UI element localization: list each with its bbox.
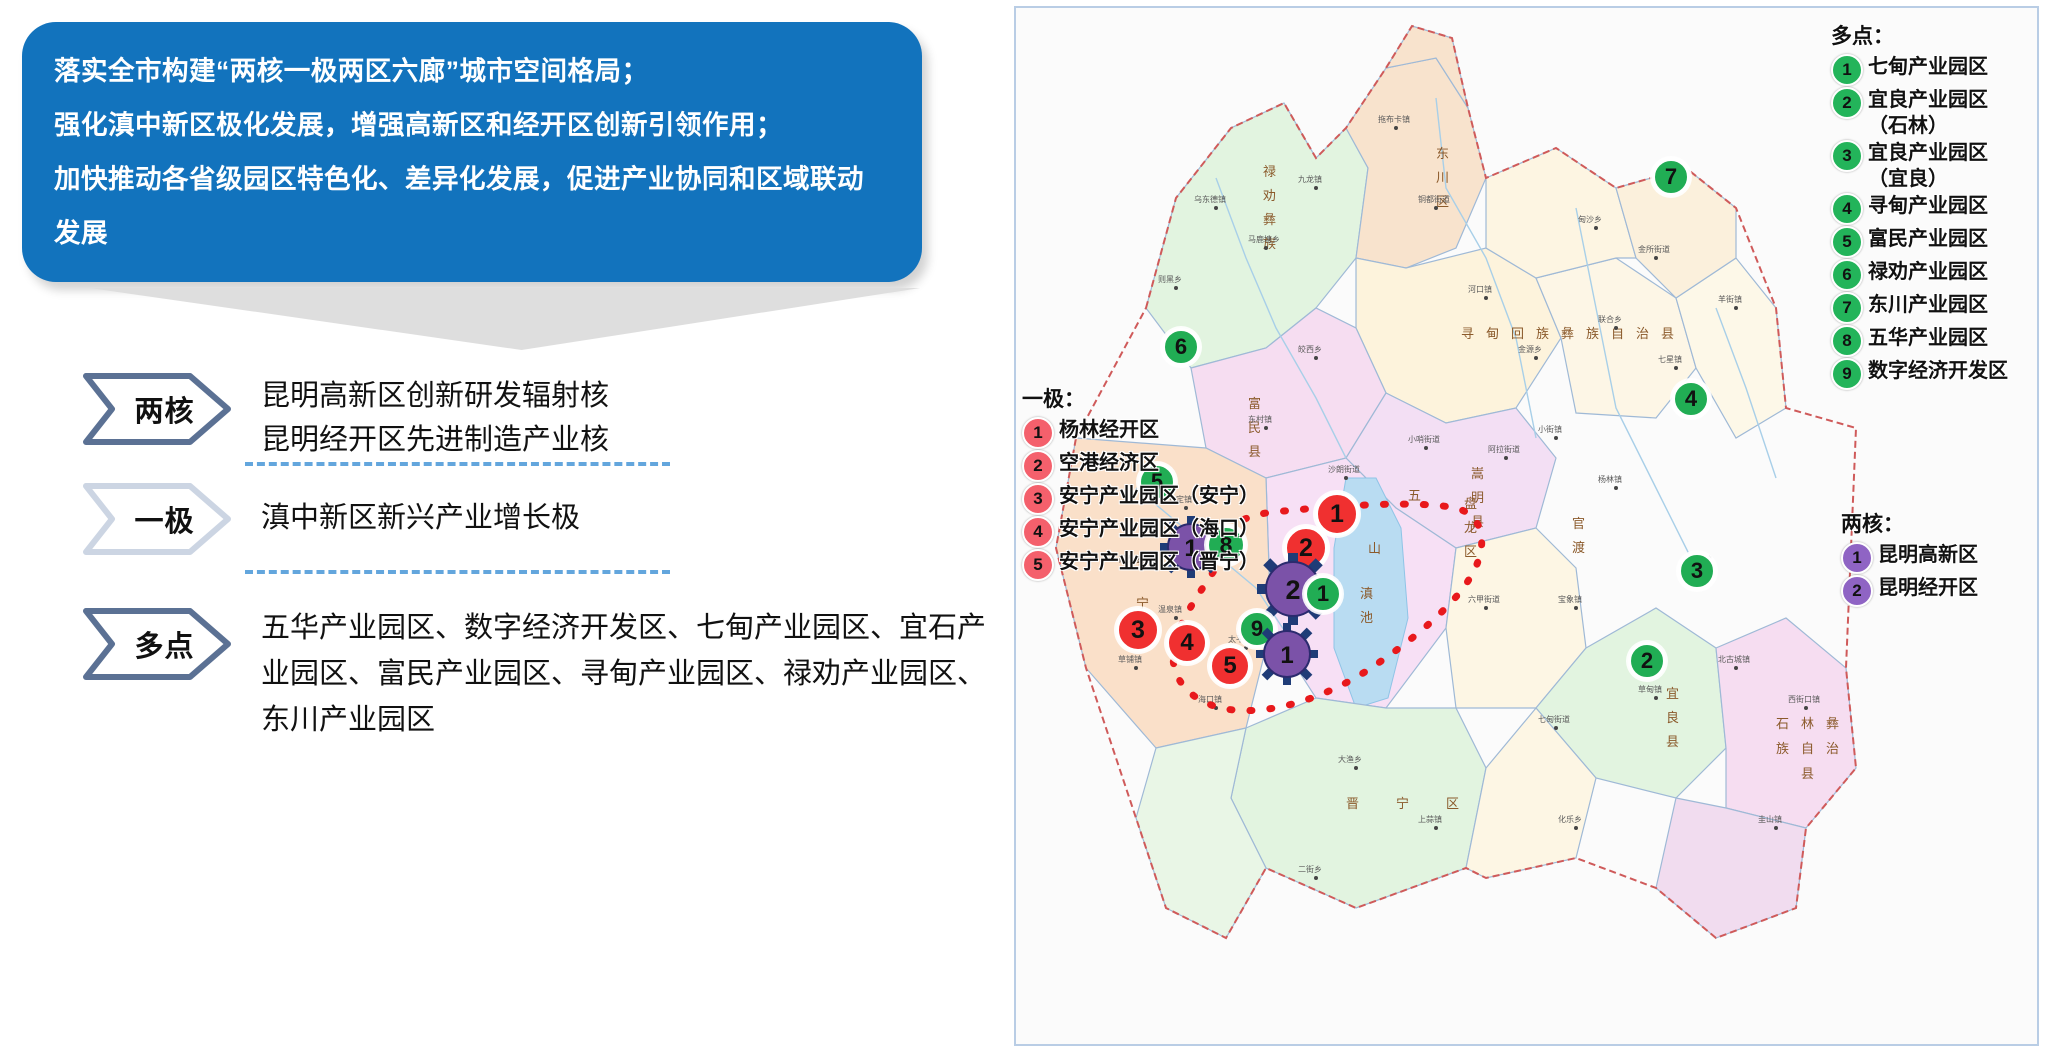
svg-text:区: 区 xyxy=(1446,796,1459,811)
legend-label: 杨林经开区 xyxy=(1059,417,1159,443)
svg-text:拖布卡镇: 拖布卡镇 xyxy=(1378,114,1410,124)
map-marker-red-5[interactable]: 5 xyxy=(1209,645,1251,687)
svg-text:金所街道: 金所街道 xyxy=(1638,244,1670,254)
svg-text:上蒜镇: 上蒜镇 xyxy=(1418,814,1442,824)
blue-callout-box: 落实全市构建“两核一极两区六廊”城市空间格局； 强化滇中新区极化发展，增强高新区… xyxy=(22,22,922,282)
svg-text:金源乡: 金源乡 xyxy=(1518,344,1542,354)
legend-label: 空港经济区 xyxy=(1059,450,1159,476)
legend-item[interactable]: 2 昆明经开区 xyxy=(1841,575,2031,607)
desc-duodian: 五华产业园区、数字经济开发区、七甸产业园区、宜石产业园区、富民产业园区、寻甸产业… xyxy=(261,605,1010,743)
svg-text:甸: 甸 xyxy=(1486,326,1499,341)
svg-text:官: 官 xyxy=(1572,516,1585,531)
legend-badge: 1 xyxy=(1831,54,1863,86)
map-marker-red-3[interactable]: 3 xyxy=(1116,608,1160,652)
svg-text:寻: 寻 xyxy=(1461,326,1474,341)
svg-text:族: 族 xyxy=(1536,326,1549,341)
legend-badge: 3 xyxy=(1022,483,1054,515)
map-gear-marker-1b[interactable]: 1 xyxy=(1256,623,1318,685)
kunming-map-panel: .cty{stroke:#9fb9d6;stroke-width:1.2;} .… xyxy=(1014,6,2039,1046)
svg-text:禄: 禄 xyxy=(1263,164,1276,179)
row-lianghe: 两核 昆明高新区创新研发辐射核 昆明经开区先进制造产业核 xyxy=(0,370,1010,462)
svg-text:草甸镇: 草甸镇 xyxy=(1638,684,1662,694)
row-yiji: 一极 滇中新区新兴产业增长极 xyxy=(0,480,1010,558)
legend-label: 五华产业园区 xyxy=(1868,325,1988,351)
legend-label: 昆明经开区 xyxy=(1878,575,1978,601)
map-marker-green-2[interactable]: 2 xyxy=(1628,642,1666,680)
svg-text:族: 族 xyxy=(1776,741,1789,756)
legend-badge: 5 xyxy=(1831,226,1863,258)
legend-item[interactable]: 3 宜良产业园区 （宜良） xyxy=(1831,140,2031,192)
legend-item[interactable]: 8 五华产业园区 xyxy=(1831,325,2031,357)
legend-item[interactable]: 2 空港经济区 xyxy=(1022,450,1262,482)
svg-text:西街口镇: 西街口镇 xyxy=(1788,694,1820,704)
svg-text:宁: 宁 xyxy=(1396,796,1409,811)
svg-text:九龙镇: 九龙镇 xyxy=(1298,174,1322,184)
svg-text:联合乡: 联合乡 xyxy=(1598,314,1622,324)
legend-label: 寻甸产业园区 xyxy=(1868,193,1988,219)
legend-item[interactable]: 2 宜良产业园区 （石林） xyxy=(1831,87,2031,139)
svg-text:彝: 彝 xyxy=(1561,326,1574,341)
map-marker-green-3[interactable]: 3 xyxy=(1678,552,1716,590)
legend-label: 东川产业园区 xyxy=(1868,292,1988,318)
svg-text:六甲街道: 六甲街道 xyxy=(1468,594,1500,604)
svg-text:区: 区 xyxy=(1464,544,1477,559)
svg-text:东: 东 xyxy=(1436,146,1449,161)
svg-text:羊街镇: 羊街镇 xyxy=(1718,294,1742,304)
svg-text:治: 治 xyxy=(1826,741,1839,756)
callout-arrow-shape xyxy=(90,288,920,350)
map-marker-green-7[interactable]: 7 xyxy=(1652,158,1690,196)
legend-item[interactable]: 9 数字经济开发区 xyxy=(1831,358,2031,390)
map-marker-green-6[interactable]: 6 xyxy=(1162,328,1200,366)
svg-text:则黑乡: 则黑乡 xyxy=(1158,274,1182,284)
legend-duodian-title: 多点： xyxy=(1831,20,2031,50)
svg-text:五: 五 xyxy=(1408,488,1421,503)
legend-badge: 7 xyxy=(1831,292,1863,324)
svg-text:小街镇: 小街镇 xyxy=(1538,424,1562,434)
map-marker-red-1[interactable]: 1 xyxy=(1315,492,1359,536)
svg-text:沙朗街道: 沙朗街道 xyxy=(1328,464,1360,474)
svg-text:七甸街道: 七甸街道 xyxy=(1538,714,1570,724)
svg-text:晋: 晋 xyxy=(1346,796,1359,811)
legend-item[interactable]: 4 寻甸产业园区 xyxy=(1831,193,2031,225)
svg-text:乌东德镇: 乌东德镇 xyxy=(1194,194,1226,204)
legend-badge: 9 xyxy=(1831,358,1863,390)
map-marker-green-1[interactable]: 1 xyxy=(1304,575,1342,613)
legend-label: 宜良产业园区 （石林） xyxy=(1868,87,1988,139)
chevron-lianghe: 两核 xyxy=(78,370,233,448)
svg-text:县: 县 xyxy=(1801,766,1814,781)
svg-text:河口镇: 河口镇 xyxy=(1468,284,1492,294)
svg-text:杨林镇: 杨林镇 xyxy=(1598,474,1622,484)
legend-lianghe-title: 两核： xyxy=(1841,508,2031,538)
svg-text:七星镇: 七星镇 xyxy=(1658,354,1682,364)
legend-item[interactable]: 1 昆明高新区 xyxy=(1841,542,2031,574)
svg-text:自: 自 xyxy=(1801,741,1814,756)
gear-icon: 1 xyxy=(1256,623,1318,685)
legend-label: 数字经济开发区 xyxy=(1868,358,2008,384)
legend-yiji-title: 一极： xyxy=(1022,383,1262,413)
svg-text:2: 2 xyxy=(1285,575,1300,605)
svg-text:马鹿塘乡: 马鹿塘乡 xyxy=(1248,234,1280,244)
legend-label: 禄劝产业园区 xyxy=(1868,259,1988,285)
legend-badge: 4 xyxy=(1022,516,1054,548)
map-marker-green-4[interactable]: 4 xyxy=(1672,380,1710,418)
svg-text:圭山镇: 圭山镇 xyxy=(1758,814,1782,824)
legend-label: 富民产业园区 xyxy=(1868,226,1988,252)
legend-item[interactable]: 7 东川产业园区 xyxy=(1831,292,2031,324)
svg-text:县: 县 xyxy=(1661,326,1674,341)
svg-text:宜: 宜 xyxy=(1666,686,1679,701)
svg-text:劝: 劝 xyxy=(1263,188,1276,203)
legend-badge: 1 xyxy=(1022,417,1054,449)
legend-label: 七甸产业园区 xyxy=(1868,54,1988,80)
callout-text: 落实全市构建“两核一极两区六廊”城市空间格局； 强化滇中新区极化发展，增强高新区… xyxy=(54,44,910,260)
legend-item[interactable]: 1 杨林经开区 xyxy=(1022,417,1262,449)
svg-text:族: 族 xyxy=(1586,326,1599,341)
svg-text:化乐乡: 化乐乡 xyxy=(1558,814,1582,824)
desc-lianghe: 昆明高新区创新研发辐射核 昆明经开区先进制造产业核 xyxy=(261,370,609,462)
svg-text:良: 良 xyxy=(1666,710,1679,725)
legend-badge: 6 xyxy=(1831,259,1863,291)
svg-text:池: 池 xyxy=(1360,610,1373,625)
svg-text:阿拉街道: 阿拉街道 xyxy=(1488,444,1520,454)
svg-text:治: 治 xyxy=(1636,326,1649,341)
chevron-duodian: 多点 xyxy=(78,605,233,683)
map-marker-red-4[interactable]: 4 xyxy=(1166,622,1208,664)
legend-lianghe: 两核： 1 昆明高新区 2 昆明经开区 xyxy=(1841,508,2031,608)
svg-text:小哨街道: 小哨街道 xyxy=(1408,434,1440,444)
legend-badge: 2 xyxy=(1831,87,1863,119)
legend-badge: 4 xyxy=(1831,193,1863,225)
svg-text:铜都街道: 铜都街道 xyxy=(1418,194,1450,204)
svg-text:甸沙乡: 甸沙乡 xyxy=(1578,214,1602,224)
legend-badge: 8 xyxy=(1831,325,1863,357)
legend-badge: 2 xyxy=(1841,575,1873,607)
svg-text:二街乡: 二街乡 xyxy=(1298,864,1322,874)
legend-label: 安宁产业园区（海口） xyxy=(1059,516,1259,542)
legend-item[interactable]: 3 安宁产业园区（安宁） xyxy=(1022,483,1262,515)
legend-badge: 2 xyxy=(1022,450,1054,482)
svg-text:皎西乡: 皎西乡 xyxy=(1298,344,1322,354)
legend-label: 宜良产业园区 （宜良） xyxy=(1868,140,1988,192)
row-duodian: 多点 五华产业园区、数字经济开发区、七甸产业园区、宜石产业园区、富民产业园区、寻… xyxy=(0,605,1010,743)
svg-text:回: 回 xyxy=(1511,326,1524,341)
chevron-label-duodian: 多点 xyxy=(116,623,194,665)
svg-text:北古城镇: 北古城镇 xyxy=(1718,654,1750,664)
left-content-panel: 落实全市构建“两核一极两区六廊”城市空间格局； 强化滇中新区极化发展，增强高新区… xyxy=(0,0,1010,1052)
legend-item[interactable]: 1 七甸产业园区 xyxy=(1831,54,2031,86)
chevron-label-yiji: 一极 xyxy=(116,498,194,540)
legend-badge: 5 xyxy=(1022,549,1054,581)
legend-label: 安宁产业园区（晋宁） xyxy=(1059,549,1259,575)
legend-label: 安宁产业园区（安宁） xyxy=(1059,483,1259,509)
svg-text:川: 川 xyxy=(1436,170,1449,185)
legend-duodian: 多点： 1 七甸产业园区 2 宜良产业园区 （石林） 3 宜良产业园区 （宜良）… xyxy=(1831,20,2031,391)
desc-yiji: 滇中新区新兴产业增长极 xyxy=(261,480,580,540)
svg-text:滇: 滇 xyxy=(1360,586,1373,601)
chevron-label-lianghe: 两核 xyxy=(116,388,194,430)
divider-2 xyxy=(245,570,670,574)
svg-text:县: 县 xyxy=(1666,734,1679,749)
svg-text:大渔乡: 大渔乡 xyxy=(1338,754,1362,764)
svg-text:嵩: 嵩 xyxy=(1471,466,1484,481)
legend-item[interactable]: 5 安宁产业园区（晋宁） xyxy=(1022,549,1262,581)
svg-text:宝象镇: 宝象镇 xyxy=(1558,594,1582,604)
legend-item[interactable]: 6 禄劝产业园区 xyxy=(1831,259,2031,291)
legend-label: 昆明高新区 xyxy=(1878,542,1978,568)
svg-text:1: 1 xyxy=(1280,642,1293,669)
svg-text:温泉镇: 温泉镇 xyxy=(1158,604,1182,614)
svg-text:草铺镇: 草铺镇 xyxy=(1118,654,1142,664)
svg-text:林: 林 xyxy=(1801,716,1814,731)
legend-item[interactable]: 5 富民产业园区 xyxy=(1831,226,2031,258)
svg-text:彝: 彝 xyxy=(1826,716,1839,731)
legend-badge: 3 xyxy=(1831,140,1863,172)
legend-item[interactable]: 4 安宁产业园区（海口） xyxy=(1022,516,1262,548)
divider-1 xyxy=(245,462,670,466)
chevron-yiji: 一极 xyxy=(78,480,233,558)
svg-text:彝: 彝 xyxy=(1263,212,1276,227)
legend-badge: 1 xyxy=(1841,542,1873,574)
svg-text:渡: 渡 xyxy=(1572,540,1585,555)
svg-text:石: 石 xyxy=(1776,716,1789,731)
svg-text:山: 山 xyxy=(1368,541,1381,556)
legend-yiji: 一极： 1 杨林经开区 2 空港经济区 3 安宁产业园区（安宁） 4 安宁产业园… xyxy=(1022,383,1262,582)
